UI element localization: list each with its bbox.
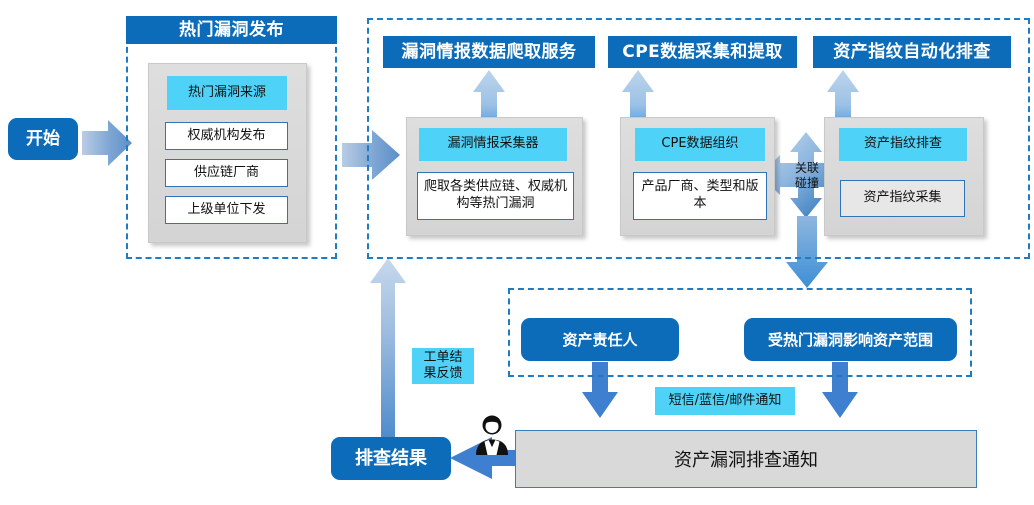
collect-col-1-banner-label: CPE数据采集和提取 (622, 44, 783, 61)
publish-item-0-label: 权威机构发布 (187, 128, 265, 145)
notify-bar-label: 资产漏洞排查通知 (674, 446, 818, 472)
flowchart-canvas: 开始 热门漏洞发布 热门漏洞来源 权威机构发布 供应链厂商 上级单位下发 漏洞情… (0, 0, 1034, 505)
publish-item-0[interactable]: 权威机构发布 (165, 122, 288, 150)
publish-item-1-label: 供应链厂商 (194, 165, 259, 182)
collect-col-2-detail[interactable]: 资产指纹采集 (840, 180, 965, 217)
scope-owner-node[interactable]: 资产责任人 (521, 318, 679, 361)
collect-col-0-banner: 漏洞情报数据爬取服务 (383, 36, 595, 68)
scope-affected-node[interactable]: 受热门漏洞影响资产范围 (744, 318, 957, 361)
quad-arrow-label: 关联 碰撞 (781, 158, 833, 194)
group-publish-banner-label: 热门漏洞发布 (179, 22, 284, 39)
feedback-tag: 工单结 果反馈 (412, 348, 474, 384)
arrow-result-feedback-up (370, 258, 406, 438)
feedback-tag-line1: 工单结 (423, 350, 462, 366)
collect-col-1-highlight-label: CPE数据组织 (661, 136, 738, 152)
notify-channel-tag: 短信/蓝信/邮件通知 (655, 387, 795, 415)
result-label: 排查结果 (355, 448, 427, 470)
collect-col-2-banner-label: 资产指纹自动化排查 (833, 44, 991, 61)
start-label: 开始 (26, 129, 60, 149)
arrow-start-to-publish (82, 120, 132, 166)
publish-highlight: 热门漏洞来源 (167, 76, 287, 110)
publish-item-2-label: 上级单位下发 (187, 202, 265, 219)
publish-item-1[interactable]: 供应链厂商 (165, 159, 288, 187)
collect-col-1-highlight: CPE数据组织 (635, 128, 765, 161)
result-node[interactable]: 排查结果 (331, 437, 451, 480)
quad-arrow-label-line2: 碰撞 (795, 176, 819, 191)
scope-owner-label: 资产责任人 (562, 331, 637, 349)
notify-bar[interactable]: 资产漏洞排查通知 (515, 430, 977, 488)
collect-col-1-detail[interactable]: 产品厂商、类型和版本 (633, 172, 767, 220)
collect-col-1-banner: CPE数据采集和提取 (608, 36, 797, 68)
collect-col-2-banner: 资产指纹自动化排查 (813, 36, 1011, 68)
collect-col-0-highlight: 漏洞情报采集器 (419, 128, 567, 161)
collect-col-1-detail-label: 产品厂商、类型和版本 (640, 179, 760, 213)
notify-channel-label: 短信/蓝信/邮件通知 (669, 393, 782, 409)
publish-item-2[interactable]: 上级单位下发 (165, 196, 288, 224)
person-icon (470, 413, 514, 457)
group-publish-banner: 热门漏洞发布 (126, 16, 337, 44)
collect-col-0-banner-label: 漏洞情报数据爬取服务 (402, 44, 577, 61)
collect-col-2-highlight-label: 资产指纹排查 (864, 136, 942, 152)
collect-col-2-highlight: 资产指纹排查 (839, 128, 967, 161)
collect-col-0-detail[interactable]: 爬取各类供应链、权威机构等热门漏洞 (417, 172, 574, 220)
collect-col-0-highlight-label: 漏洞情报采集器 (447, 136, 538, 152)
scope-affected-label: 受热门漏洞影响资产范围 (768, 331, 933, 349)
collect-col-2-detail-label: 资产指纹采集 (863, 190, 941, 207)
quad-arrow-label-line1: 关联 (795, 161, 819, 176)
collect-col-0-detail-label: 爬取各类供应链、权威机构等热门漏洞 (424, 179, 567, 213)
publish-highlight-label: 热门漏洞来源 (188, 85, 266, 101)
start-node[interactable]: 开始 (8, 118, 78, 160)
feedback-tag-line2: 果反馈 (423, 366, 462, 382)
